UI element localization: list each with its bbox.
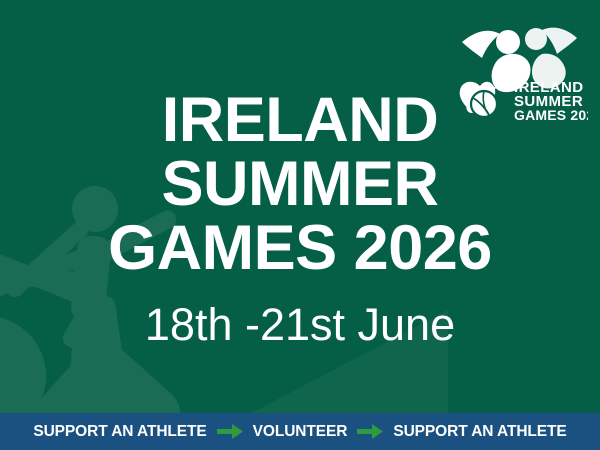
title-line-2: SUMMER <box>0 152 600 216</box>
title-line-1: IRELAND <box>0 88 600 152</box>
action-bar: SUPPORT AN ATHLETE VOLUNTEER SUPPORT AN … <box>0 413 600 450</box>
title-line-3: GAMES 2026 <box>0 216 600 280</box>
page-title: IRELAND SUMMER GAMES 2026 18th -21st Jun… <box>0 88 600 350</box>
action-link-support-an-athlete-2[interactable]: SUPPORT AN ATHLETE <box>393 423 566 441</box>
event-date: 18th -21st June <box>0 300 600 350</box>
action-link-support-an-athlete-1[interactable]: SUPPORT AN ATHLETE <box>33 423 206 441</box>
action-link-volunteer[interactable]: VOLUNTEER <box>253 423 348 441</box>
arrow-right-icon <box>357 424 383 439</box>
event-promo-banner: IRELAND SUMMER GAMES 2026 IRELAND SUMMER… <box>0 0 600 450</box>
arrow-right-icon <box>217 424 243 439</box>
